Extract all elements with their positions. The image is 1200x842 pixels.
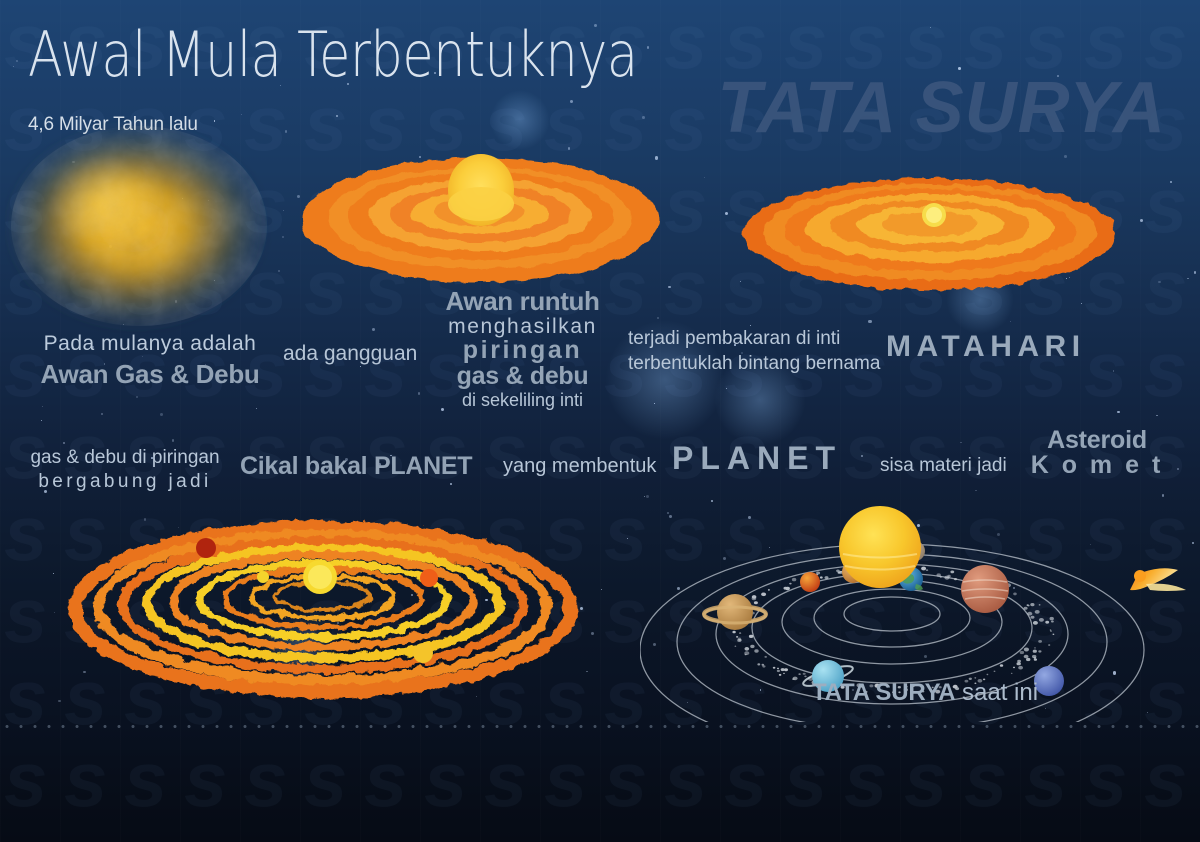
asteroid bbox=[840, 571, 842, 572]
star bbox=[1140, 219, 1143, 222]
star bbox=[726, 388, 727, 389]
star bbox=[930, 27, 932, 29]
star bbox=[1064, 155, 1067, 158]
watermark-letter: s bbox=[240, 82, 300, 164]
stage1-line1: Pada mulanya adalah bbox=[30, 330, 270, 358]
star bbox=[42, 406, 44, 408]
asteroid bbox=[761, 593, 766, 597]
asteroid bbox=[1050, 617, 1054, 620]
star bbox=[182, 198, 183, 199]
asteroid bbox=[750, 645, 754, 648]
stage1-caption: Pada mulanya adalah Awan Gas & Debu bbox=[30, 330, 270, 388]
star bbox=[657, 317, 659, 319]
asteroid bbox=[937, 573, 941, 576]
asteroid bbox=[1034, 658, 1037, 660]
stage3-line1: Awan runtuh bbox=[430, 288, 615, 315]
watermark-letter: s bbox=[480, 410, 540, 492]
stage5-label: Cikal bakal PLANET bbox=[240, 452, 472, 481]
stage5-line2: bergabung jadi bbox=[30, 470, 220, 494]
asteroid bbox=[926, 569, 928, 571]
star bbox=[256, 408, 257, 409]
asteroid bbox=[781, 668, 785, 671]
star bbox=[285, 130, 288, 133]
stage6-asteroid-komet: Asteroid K o m e t bbox=[1026, 428, 1168, 478]
asteroid bbox=[1026, 658, 1030, 661]
subtitle-age: 4,6 Milyar Tahun lalu bbox=[28, 114, 198, 136]
star bbox=[1170, 181, 1172, 183]
star bbox=[868, 320, 871, 323]
watermark-letter: s bbox=[180, 246, 240, 328]
title-accent: TATA SURYA bbox=[717, 72, 1166, 144]
watermark-letter: s bbox=[900, 410, 960, 492]
star bbox=[120, 213, 122, 215]
watermark-letter: s bbox=[240, 164, 300, 246]
protoplanetary-disk-illustration bbox=[58, 505, 588, 710]
star bbox=[214, 120, 216, 122]
watermark-letter: s bbox=[1140, 164, 1200, 246]
watermark-letter: s bbox=[660, 164, 720, 246]
stage6-leftover-label: sisa materi jadi bbox=[880, 455, 1007, 477]
watermark-letter: s bbox=[840, 410, 900, 492]
stage3-line3: piringan bbox=[430, 338, 615, 364]
asteroid bbox=[785, 587, 790, 590]
asteroid bbox=[1027, 612, 1032, 616]
watermark-letter: s bbox=[600, 410, 660, 492]
asteroid bbox=[1045, 621, 1049, 624]
asteroid bbox=[1017, 660, 1021, 663]
label-asteroid: Asteroid bbox=[1026, 428, 1168, 453]
stage5-line1: gas & debu di piringan bbox=[30, 446, 220, 470]
watermark-letter: s bbox=[120, 164, 180, 246]
star bbox=[591, 632, 594, 635]
asteroid bbox=[950, 571, 954, 574]
asteroid bbox=[764, 656, 767, 658]
watermark-letter: s bbox=[1080, 328, 1140, 410]
stage3-caption: Awan runtuh menghasilkan piringan gas & … bbox=[430, 288, 615, 409]
asteroid bbox=[1018, 666, 1023, 670]
asteroid bbox=[779, 674, 782, 676]
watermark-letter: s bbox=[660, 0, 720, 82]
stage4-label-matahari: MATAHARI bbox=[886, 330, 1086, 364]
stage4-line2: terbentuklah bintang bernama bbox=[628, 351, 880, 376]
watermark-letter: s bbox=[0, 574, 60, 656]
asteroid bbox=[1024, 655, 1029, 659]
stage1-line2: Awan Gas & Debu bbox=[30, 360, 270, 388]
star bbox=[72, 161, 74, 163]
asteroid bbox=[749, 635, 753, 638]
star bbox=[54, 612, 56, 614]
star bbox=[241, 114, 243, 116]
star bbox=[214, 280, 215, 281]
asteroid bbox=[773, 667, 776, 669]
asteroid bbox=[1050, 630, 1052, 632]
star bbox=[1010, 321, 1011, 322]
asteroid bbox=[803, 673, 806, 675]
asteroid bbox=[757, 663, 760, 665]
star bbox=[123, 324, 124, 325]
asteroid bbox=[732, 631, 735, 634]
stage3-line5: di sekeliling inti bbox=[430, 391, 615, 409]
asteroid bbox=[1053, 634, 1055, 635]
infographic-poster: ssssssssssssssssssssssssssssssssssssssss… bbox=[0, 0, 1200, 842]
star bbox=[13, 66, 14, 67]
asteroid bbox=[783, 673, 785, 674]
star bbox=[109, 245, 112, 248]
stage5-caption: gas & debu di piringan bergabung jadi bbox=[30, 446, 220, 494]
stage6-label-planet: PLANET bbox=[672, 440, 842, 477]
star bbox=[372, 328, 375, 331]
star bbox=[41, 420, 42, 421]
stage4-caption: terjadi pembakaran di inti terbentuklah … bbox=[628, 326, 880, 376]
solar-system-caption-bold: TATA SURYA bbox=[812, 679, 955, 706]
asteroid bbox=[789, 583, 791, 585]
asteroid bbox=[1034, 647, 1036, 648]
gas-dust-cloud-illustration bbox=[5, 118, 280, 333]
star bbox=[101, 413, 103, 415]
star bbox=[570, 100, 573, 103]
asteroid bbox=[1048, 644, 1050, 646]
asteroid bbox=[744, 651, 749, 655]
star bbox=[450, 483, 452, 485]
solar-system-caption-light: saat ini bbox=[962, 679, 1038, 706]
asteroid bbox=[762, 665, 765, 667]
asteroid bbox=[1039, 604, 1041, 605]
asteroid bbox=[1032, 655, 1036, 658]
collapsing-cloud-disk-illustration bbox=[300, 128, 660, 303]
asteroid bbox=[804, 676, 806, 678]
asteroid bbox=[1013, 593, 1017, 596]
solar-system-caption: TATA SURYA saat ini bbox=[812, 679, 1038, 707]
asteroid bbox=[792, 578, 796, 581]
watermark-letter: s bbox=[60, 164, 120, 246]
star bbox=[138, 217, 141, 220]
star bbox=[16, 60, 18, 62]
asteroid bbox=[1038, 640, 1042, 643]
asteroid bbox=[752, 595, 757, 599]
watermark-letter: s bbox=[960, 410, 1020, 492]
star bbox=[418, 392, 421, 395]
asteroid bbox=[1033, 621, 1038, 625]
star bbox=[336, 115, 338, 117]
asteroid bbox=[736, 636, 738, 638]
watermark-letter: s bbox=[0, 164, 60, 246]
asteroid bbox=[954, 578, 957, 580]
watermark-letter: s bbox=[180, 164, 240, 246]
star bbox=[1117, 411, 1119, 413]
asteroid bbox=[1027, 604, 1029, 606]
label-komet: K o m e t bbox=[1026, 453, 1168, 478]
star bbox=[647, 46, 649, 48]
stage6-label: yang membentuk bbox=[503, 455, 656, 478]
watermark-letter: s bbox=[0, 492, 60, 574]
stage2-label: ada gangguan bbox=[283, 342, 417, 366]
asteroid bbox=[798, 673, 800, 675]
asteroid bbox=[1035, 610, 1040, 614]
watermark-letter: s bbox=[240, 246, 300, 328]
stage3-line4: gas & debu bbox=[430, 364, 615, 390]
star bbox=[627, 538, 628, 539]
asteroid bbox=[1051, 621, 1054, 623]
page-title: Awal Mula Terbentuknya bbox=[28, 24, 638, 86]
star bbox=[160, 413, 163, 416]
star bbox=[63, 442, 65, 444]
watermark-letter: s bbox=[660, 246, 720, 328]
stage3-line2: menghasilkan bbox=[430, 316, 615, 337]
asteroid bbox=[1020, 651, 1024, 654]
asteroid bbox=[737, 639, 741, 642]
watermark-letter: s bbox=[0, 246, 60, 328]
asteroid bbox=[768, 589, 770, 591]
asteroid bbox=[777, 670, 780, 672]
star bbox=[282, 236, 284, 238]
asteroid bbox=[1024, 648, 1029, 652]
footer: LANGITSELATAN ASTRO langitselatan bbox=[0, 728, 1200, 842]
asteroid bbox=[825, 576, 829, 579]
star bbox=[601, 589, 602, 590]
asteroid bbox=[947, 575, 950, 578]
star bbox=[642, 116, 645, 119]
watermark-letter: s bbox=[60, 246, 120, 328]
star bbox=[960, 442, 962, 444]
asteroid bbox=[777, 668, 779, 670]
asteroid bbox=[1030, 603, 1034, 606]
asteroid bbox=[994, 671, 996, 672]
asteroid bbox=[754, 649, 758, 652]
watermark-letter: s bbox=[540, 410, 600, 492]
asteroid bbox=[1024, 607, 1028, 610]
star bbox=[208, 200, 209, 201]
asteroid bbox=[792, 678, 794, 680]
star bbox=[975, 490, 976, 491]
asteroid bbox=[820, 576, 823, 578]
star bbox=[1187, 278, 1189, 280]
protostar-disk-illustration bbox=[740, 168, 1120, 313]
watermark-letter: s bbox=[1140, 328, 1200, 410]
star bbox=[668, 286, 671, 289]
star bbox=[654, 403, 655, 404]
asteroid bbox=[735, 646, 737, 647]
star bbox=[175, 300, 178, 303]
asteroid bbox=[921, 567, 926, 571]
stage4-line1: terjadi pembakaran di inti bbox=[628, 326, 880, 351]
asteroid bbox=[1017, 662, 1021, 665]
asteroid bbox=[745, 647, 750, 651]
asteroid bbox=[1038, 650, 1041, 652]
asteroid bbox=[1013, 667, 1015, 669]
watermark-letter: s bbox=[360, 328, 420, 410]
asteroid bbox=[1011, 673, 1013, 674]
star bbox=[360, 366, 361, 367]
asteroid bbox=[987, 674, 989, 675]
star bbox=[1194, 271, 1197, 274]
star bbox=[172, 439, 174, 441]
star bbox=[1113, 370, 1114, 371]
asteroid bbox=[739, 632, 741, 634]
watermark-letter: s bbox=[660, 82, 720, 164]
star bbox=[136, 396, 138, 398]
asteroid bbox=[1033, 650, 1037, 653]
star bbox=[1158, 281, 1161, 284]
star bbox=[1177, 468, 1179, 470]
asteroid bbox=[1031, 616, 1035, 619]
star bbox=[725, 212, 728, 215]
star bbox=[278, 270, 280, 272]
star bbox=[283, 210, 285, 212]
watermark-letter: s bbox=[1140, 246, 1200, 328]
watermark-letter: s bbox=[120, 246, 180, 328]
asteroid bbox=[1000, 664, 1003, 667]
star bbox=[704, 177, 705, 178]
asteroid bbox=[1039, 618, 1044, 622]
star bbox=[1156, 415, 1158, 417]
watermark-letter: s bbox=[300, 328, 360, 410]
star bbox=[861, 455, 863, 457]
star bbox=[53, 573, 54, 574]
asteroid bbox=[754, 601, 758, 604]
